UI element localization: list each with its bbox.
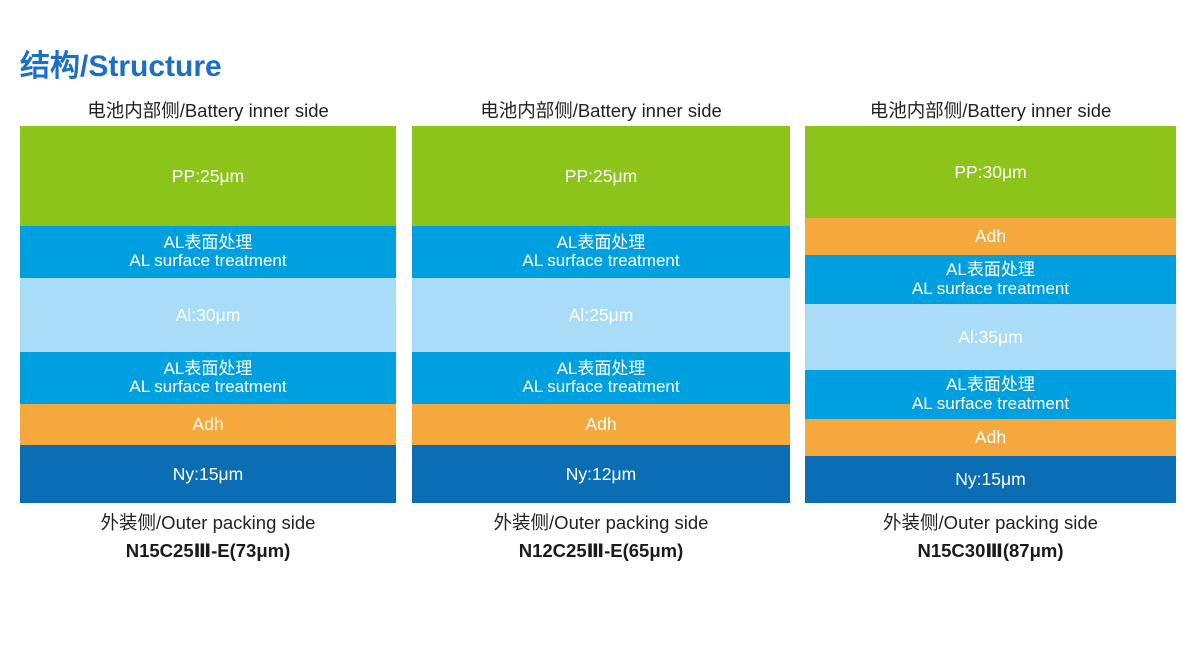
layer-label-secondary: AL surface treatment	[522, 252, 679, 270]
layer-al-foil: Al:35μm	[805, 304, 1176, 370]
layer-al-foil: Al:30μm	[20, 278, 396, 352]
page-title: 结构/Structure	[20, 41, 222, 85]
layer-al-treatment: AL表面处理AL surface treatment	[20, 226, 396, 278]
layer-label-secondary: AL surface treatment	[522, 378, 679, 396]
layer-pp: PP:25μm	[20, 126, 396, 226]
layer-label-primary: PP:30μm	[954, 163, 1026, 182]
layer-al-treatment: AL表面处理AL surface treatment	[805, 255, 1176, 304]
layer-label-secondary: AL surface treatment	[912, 280, 1069, 298]
product-code: N12C25Ⅲ-E(65μm)	[412, 536, 790, 566]
layer-label-primary: AL表面处理	[164, 234, 253, 252]
layer-ny: Ny:15μm	[20, 445, 396, 503]
layer-al-treatment: AL表面处理AL surface treatment	[805, 370, 1176, 419]
layer-ny: Ny:15μm	[805, 456, 1176, 503]
structure-columns: 电池内部侧/Battery inner side PP:25μmAL表面处理AL…	[0, 96, 1182, 596]
product-code: N15C30Ⅲ(87μm)	[805, 536, 1176, 566]
inner-side-label: 电池内部侧/Battery inner side	[805, 96, 1176, 126]
outer-side-label: 外装侧/Outer packing side	[805, 510, 1176, 536]
layer-stack-1: PP:25μmAL表面处理AL surface treatmentAl:30μm…	[20, 126, 396, 503]
layer-label-primary: Ny:15μm	[955, 470, 1025, 489]
structure-column-3: 电池内部侧/Battery inner side PP:30μmAdhAL表面处…	[805, 96, 1176, 566]
layer-label-primary: Al:35μm	[958, 328, 1023, 347]
layer-label-primary: Ny:15μm	[173, 465, 243, 484]
layer-label-primary: Al:25μm	[569, 306, 634, 325]
layer-label-secondary: AL surface treatment	[912, 395, 1069, 413]
product-code: N15C25Ⅲ-E(73μm)	[20, 536, 396, 566]
layer-label-primary: Al:30μm	[176, 306, 241, 325]
layer-label-primary: AL表面处理	[946, 261, 1035, 279]
caption-3: 外装侧/Outer packing side N15C30Ⅲ(87μm)	[805, 510, 1176, 566]
layer-label-secondary: AL surface treatment	[129, 252, 286, 270]
structure-column-1: 电池内部侧/Battery inner side PP:25μmAL表面处理AL…	[20, 96, 396, 566]
layer-adh: Adh	[20, 404, 396, 445]
inner-side-label: 电池内部侧/Battery inner side	[412, 96, 790, 126]
structure-column-2: 电池内部侧/Battery inner side PP:25μmAL表面处理AL…	[412, 96, 790, 566]
caption-2: 外装侧/Outer packing side N12C25Ⅲ-E(65μm)	[412, 510, 790, 566]
layer-adh: Adh	[412, 404, 790, 445]
layer-label-primary: AL表面处理	[557, 234, 646, 252]
layer-pp: PP:25μm	[412, 126, 790, 226]
layer-al-foil: Al:25μm	[412, 278, 790, 352]
layer-label-primary: Adh	[975, 428, 1006, 447]
layer-label-primary: Adh	[975, 227, 1006, 246]
inner-side-label: 电池内部侧/Battery inner side	[20, 96, 396, 126]
layer-label-primary: PP:25μm	[172, 167, 244, 186]
caption-1: 外装侧/Outer packing side N15C25Ⅲ-E(73μm)	[20, 510, 396, 566]
layer-adh: Adh	[805, 218, 1176, 255]
layer-al-treatment: AL表面处理AL surface treatment	[20, 352, 396, 404]
layer-label-primary: Adh	[192, 415, 223, 434]
layer-label-primary: AL表面处理	[946, 376, 1035, 394]
layer-label-primary: Ny:12μm	[566, 465, 636, 484]
layer-label-secondary: AL surface treatment	[129, 378, 286, 396]
layer-al-treatment: AL表面处理AL surface treatment	[412, 352, 790, 404]
layer-label-primary: AL表面处理	[557, 360, 646, 378]
layer-label-primary: PP:25μm	[565, 167, 637, 186]
outer-side-label: 外装侧/Outer packing side	[20, 510, 396, 536]
outer-side-label: 外装侧/Outer packing side	[412, 510, 790, 536]
layer-stack-3: PP:30μmAdhAL表面处理AL surface treatmentAl:3…	[805, 126, 1176, 503]
layer-pp: PP:30μm	[805, 126, 1176, 218]
layer-label-primary: AL表面处理	[164, 360, 253, 378]
layer-stack-2: PP:25μmAL表面处理AL surface treatmentAl:25μm…	[412, 126, 790, 503]
layer-adh: Adh	[805, 419, 1176, 456]
layer-al-treatment: AL表面处理AL surface treatment	[412, 226, 790, 278]
layer-ny: Ny:12μm	[412, 445, 790, 503]
layer-label-primary: Adh	[585, 415, 616, 434]
